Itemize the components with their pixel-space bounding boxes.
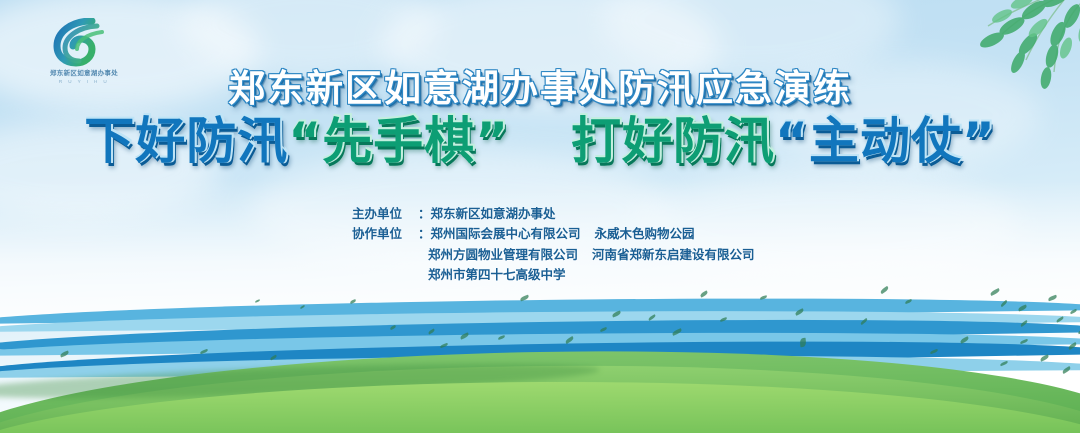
organizer-block: 主办单位 ： 郑东新区如意湖办事处 协作单位 ： 郑州国际会展中心有限公司 永威… (352, 204, 755, 285)
partner-unit: 郑州方圆物业管理有限公司 (428, 245, 592, 265)
event-banner: 郑东新区如意湖办事处 R U Y I H U (0, 0, 1080, 433)
floating-leaf-icon (60, 350, 70, 357)
floating-leaf-icon (428, 328, 436, 334)
floating-leaf-icon (1070, 309, 1078, 314)
host-label: 主办单位 (352, 204, 418, 224)
water-band (0, 307, 1080, 332)
water-band (0, 313, 1080, 350)
partner-colon: ： (418, 224, 431, 244)
floating-leaf-icon (930, 349, 939, 354)
floating-leaf-icon (270, 355, 278, 361)
floating-leaf-icon (300, 305, 305, 309)
slogan-right: 打好防汛“主动仗” (571, 112, 996, 171)
spacer (352, 265, 418, 285)
floating-leaf-icon (1062, 366, 1072, 374)
floating-leaf-icon (960, 336, 970, 344)
spacer (352, 245, 418, 265)
floating-leaf-icon (600, 327, 608, 332)
slogan-right-part1: 打好防汛 (571, 112, 775, 170)
host-colon: ： (418, 204, 431, 224)
floating-leaf-icon (390, 325, 397, 330)
floating-leaf-icon (720, 317, 728, 322)
floating-leaf-icon (498, 335, 506, 340)
floating-leaf-icon (350, 299, 357, 304)
slogan-row: 下好防汛“先手棋” 打好防汛“主动仗” (0, 112, 1080, 171)
floating-leaf-icon (860, 318, 868, 325)
floating-leaf-icon (460, 332, 470, 339)
floating-leaf-icon (880, 286, 890, 294)
banner-title: 郑东新区如意湖办事处防汛应急演练 (0, 58, 1080, 112)
floating-leaf-icon (520, 295, 530, 302)
grass-shadow (0, 357, 600, 405)
floating-leaf-icon (1018, 304, 1028, 311)
floating-leaf-icon (612, 310, 622, 317)
floating-leaf-icon (1020, 339, 1029, 344)
partner-unit: 河南省郑新东启建设有限公司 (592, 245, 755, 265)
floating-leaf-icon (905, 299, 913, 304)
spacer (418, 245, 428, 265)
partner-row: 郑州市第四十七高级中学 (352, 265, 755, 285)
floating-leaf-icon (1000, 361, 1009, 367)
partner-row: 郑州方圆物业管理有限公司 河南省郑新东启建设有限公司 (352, 245, 755, 265)
floating-leaf-icon (700, 290, 709, 297)
slogan-left-part1: 下好防汛 (84, 112, 288, 170)
partner-unit: 郑州国际会展中心有限公司 (431, 224, 595, 244)
water-band (0, 293, 1080, 324)
spacer (418, 265, 428, 285)
floating-leaf-icon (565, 336, 575, 344)
floating-leaf-icon (1040, 354, 1050, 361)
slogan-right-part2: “主动仗” (775, 112, 996, 170)
partner-row: 协作单位 ： 郑州国际会展中心有限公司 永威木色购物公园 (352, 224, 755, 244)
partner-unit: 永威木色购物公园 (595, 224, 695, 244)
host-value: 郑东新区如意湖办事处 (431, 204, 595, 224)
floating-leaf-icon (255, 299, 260, 302)
floating-leaf-icon (1056, 316, 1064, 322)
floating-leaf-icon (440, 343, 449, 348)
floating-leaf-icon (795, 308, 805, 316)
floating-leaf-icon (1068, 342, 1078, 350)
floating-leaf-icon (1000, 300, 1008, 307)
floating-leaf-icon (200, 349, 209, 354)
partner-unit: 郑州市第四十七高级中学 (428, 265, 592, 285)
floating-leaf-icon (648, 314, 656, 321)
slogan-left: 下好防汛“先手棋” (84, 112, 509, 171)
slogan-left-part2: “先手棋” (288, 112, 509, 170)
host-row: 主办单位 ： 郑东新区如意湖办事处 (352, 204, 755, 224)
floating-leaf-icon (1020, 320, 1028, 327)
floating-leaf-icon (990, 288, 1001, 296)
floating-leaf-icon (760, 295, 768, 300)
partner-label: 协作单位 (352, 224, 418, 244)
floating-leaf-icon (800, 338, 807, 348)
floating-leaf-icon (672, 328, 683, 336)
floating-leaf-icon (1048, 295, 1058, 302)
water-band (0, 328, 1080, 356)
